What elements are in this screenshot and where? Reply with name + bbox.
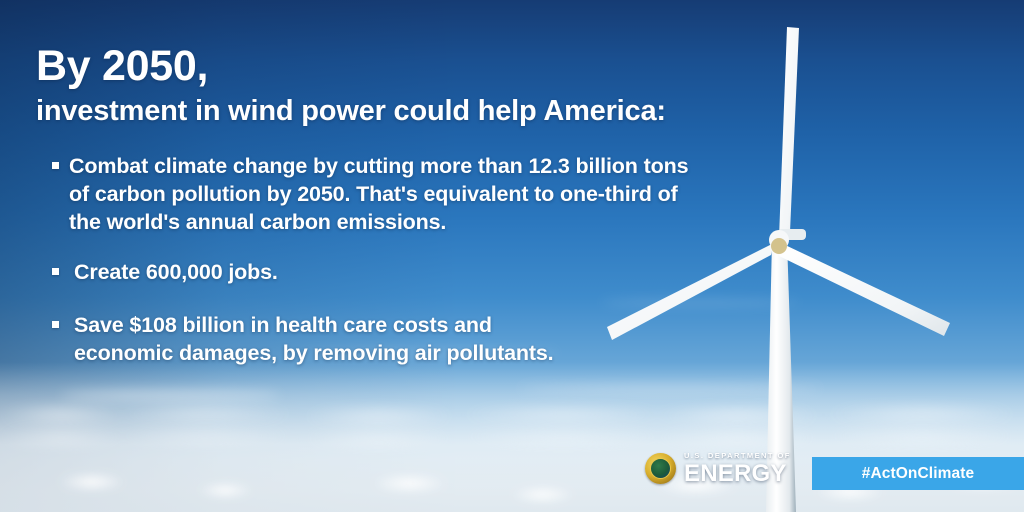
doe-seal-shield-icon	[650, 458, 671, 479]
doe-department-label: U.S. DEPARTMENT OF	[684, 452, 791, 460]
list-item-text: Combat climate change by cutting more th…	[69, 152, 692, 236]
bullet-dot-icon	[52, 268, 59, 275]
hashtag-label: #ActOnClimate	[862, 465, 974, 483]
doe-logo-wordmark: U.S. DEPARTMENT OF ENERGY	[684, 452, 791, 486]
list-item: Create 600,000 jobs.	[52, 258, 692, 286]
bullet-dot-icon	[52, 321, 59, 328]
list-item-text: Create 600,000 jobs.	[74, 258, 278, 286]
cloud-wisp	[520, 386, 820, 392]
page-title: By 2050,	[36, 44, 208, 89]
doe-logo: U.S. DEPARTMENT OF ENERGY	[645, 452, 791, 486]
list-item-text: Save $108 billion in health care costs a…	[74, 311, 562, 367]
list-item: Save $108 billion in health care costs a…	[52, 311, 562, 367]
benefits-list: Combat climate change by cutting more th…	[52, 152, 692, 385]
doe-energy-label: ENERGY	[684, 462, 791, 486]
infographic-poster: By 2050, investment in wind power could …	[0, 0, 1024, 512]
page-subtitle: investment in wind power could help Amer…	[36, 96, 666, 128]
cloud-wisp	[60, 392, 280, 399]
hashtag-badge[interactable]: #ActOnClimate	[812, 457, 1024, 490]
list-item: Combat climate change by cutting more th…	[52, 152, 692, 236]
doe-seal-icon	[645, 453, 676, 484]
bullet-dot-icon	[52, 162, 59, 169]
